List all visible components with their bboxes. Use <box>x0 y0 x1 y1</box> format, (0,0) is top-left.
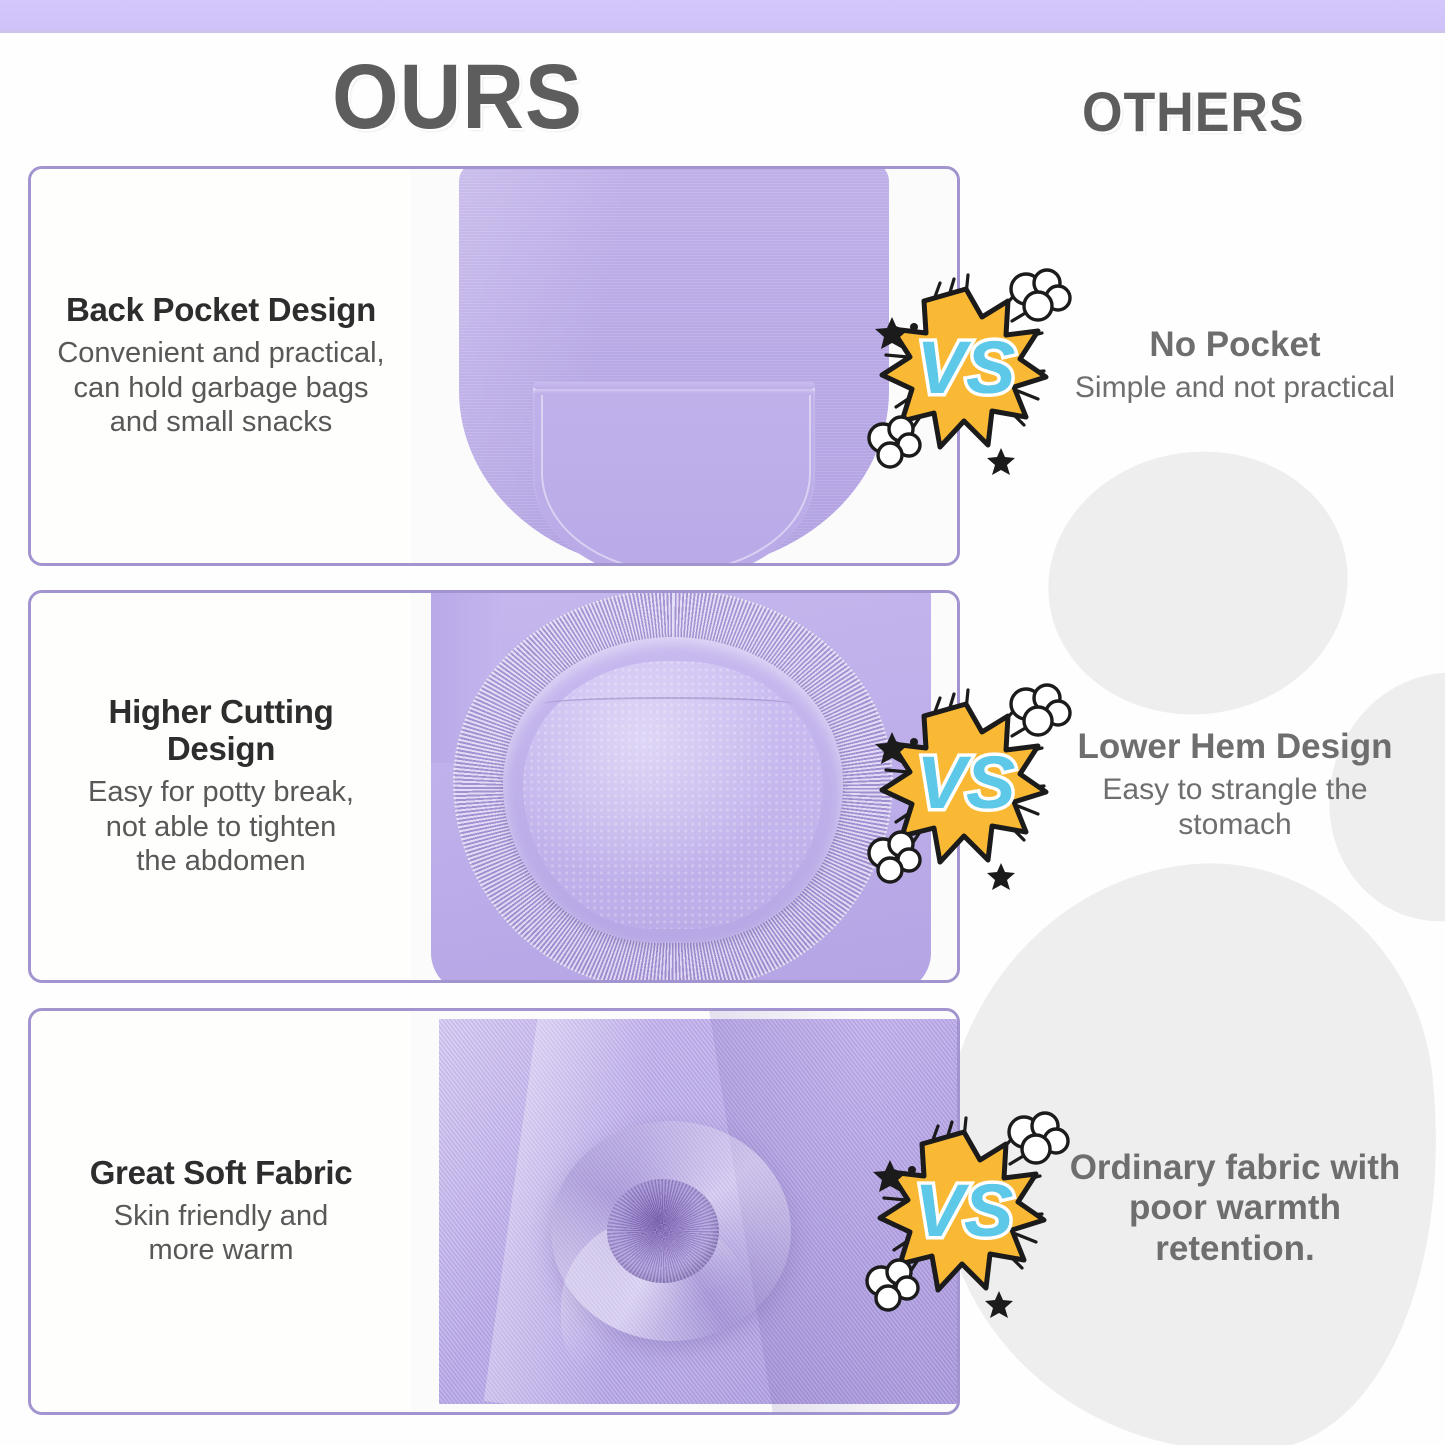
comparison-infographic: OURS OTHERS Back Pocket Design Convenien… <box>0 0 1445 1445</box>
others-desc-3: Ordinary fabric withpoor warmthretention… <box>1030 1148 1440 1269</box>
others-text-block-2: Lower Hem Design Easy to strangle thesto… <box>1032 728 1438 842</box>
fabric-swirl-center <box>607 1179 719 1283</box>
comparison-card-3: Great Soft Fabric Skin friendly andmore … <box>28 1008 960 1415</box>
ours-desc-2: Easy for potty break,not able to tighten… <box>88 775 354 879</box>
top-accent-bar <box>0 0 1445 30</box>
ours-desc-3: Skin friendly andmore warm <box>114 1199 328 1269</box>
vs-burst-badge-3: VS VS <box>860 1108 1070 1318</box>
ours-desc-1: Convenient and practical,can hold garbag… <box>57 336 384 440</box>
others-heading: OTHERS <box>1082 84 1305 140</box>
ours-text-block-2: Higher CuttingDesign Easy for potty brea… <box>31 593 411 980</box>
others-title-2: Lower Hem Design <box>1032 728 1438 767</box>
others-desc-1: Simple and not practical <box>1035 370 1435 405</box>
ours-heading: OURS <box>332 51 583 143</box>
ours-text-block-1: Back Pocket Design Convenient and practi… <box>31 169 411 563</box>
vs-burst-badge-1: VS VS <box>862 265 1072 475</box>
others-text-block-1: No Pocket Simple and not practical <box>1035 326 1435 405</box>
pocket-stitch-line <box>541 395 811 563</box>
svg-text:VS: VS <box>917 741 1016 824</box>
ours-title-1: Back Pocket Design <box>66 292 376 329</box>
ours-title-2: Higher CuttingDesign <box>109 694 334 768</box>
others-desc-2: Easy to strangle thestomach <box>1032 772 1438 843</box>
paw-toe-icon <box>1031 432 1365 733</box>
comparison-card-2: Higher CuttingDesign Easy for potty brea… <box>28 590 960 983</box>
svg-text:VS: VS <box>917 326 1016 409</box>
svg-text:VS: VS <box>915 1169 1014 1252</box>
ours-text-block-3: Great Soft Fabric Skin friendly andmore … <box>31 1011 411 1412</box>
lining-seam-line <box>543 697 793 711</box>
top-accent-bar-shadow <box>0 30 1445 33</box>
ours-title-3: Great Soft Fabric <box>90 1155 353 1192</box>
comparison-card-1: Back Pocket Design Convenient and practi… <box>28 166 960 566</box>
vs-burst-badge-2: VS VS <box>862 680 1072 890</box>
others-title-1: No Pocket <box>1035 326 1435 365</box>
others-text-block-3: Ordinary fabric withpoor warmthretention… <box>1030 1148 1440 1269</box>
